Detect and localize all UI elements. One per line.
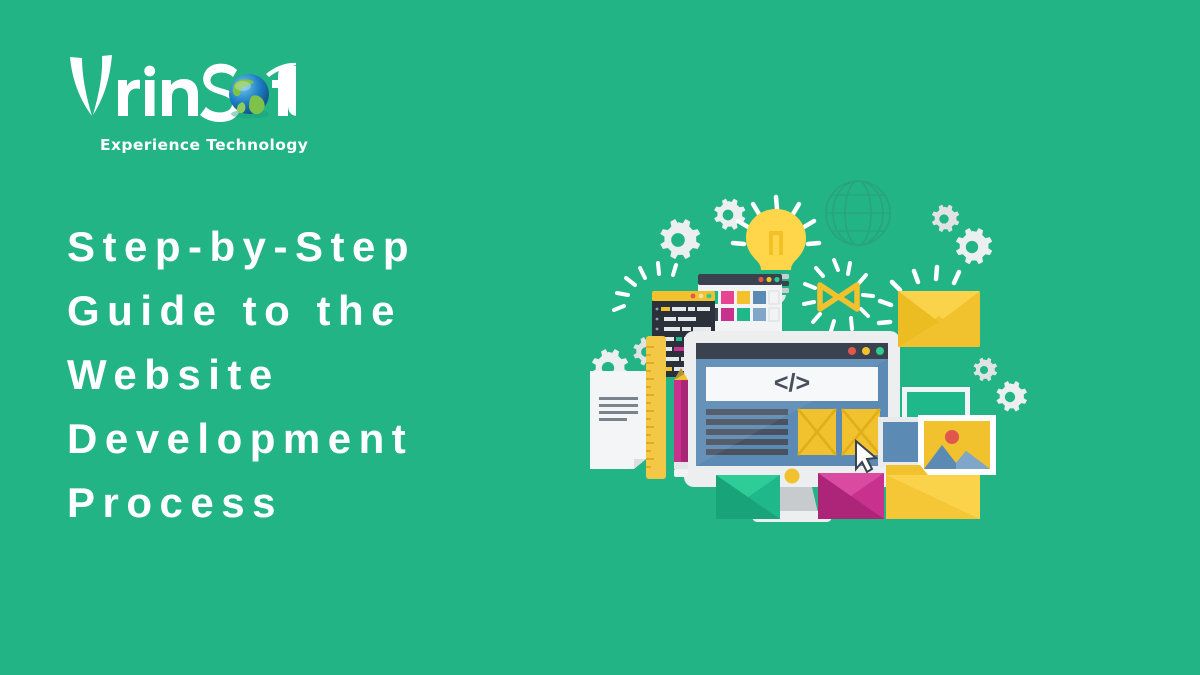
pencil-icon [674,368,688,477]
gear-icon [974,358,998,382]
chain-link-icon [804,260,873,331]
page-title: Step-by-Step Guide to the Website Develo… [67,215,537,535]
headline-line-2: Guide to the [67,279,537,343]
gear-icon [996,381,1027,412]
logo-wordmark [66,52,296,124]
headline-line-1: Step-by-Step [67,215,537,279]
headline-line-5: Process [67,471,537,535]
banner-root: Experience Technology Step-by-Step Guide… [0,0,1200,675]
illustration-svg: </> [580,175,1030,530]
gear-icon [956,228,992,264]
ruler-icon [646,336,666,479]
gear-icon [660,219,700,259]
globe-icon [229,74,269,119]
logo-tagline: Experience Technology [100,136,308,154]
headline-line-3: Website [67,343,537,407]
web-development-illustration: </> [580,175,1030,530]
envelope-icon [818,473,884,519]
headline-line-4: Development [67,407,537,471]
image-placeholder [798,409,836,455]
gear-icon [932,205,960,233]
browser-maximize-dot [876,347,884,355]
power-indicator [785,469,800,484]
logo-svg [66,52,296,124]
envelope-icon [898,291,980,347]
browser-minimize-dot [862,347,870,355]
brand-logo[interactable]: Experience Technology [66,52,366,162]
wireframe-globe-icon [826,181,890,245]
document-icon [590,371,646,469]
envelope-icon [716,475,780,519]
browser-close-dot [848,347,856,355]
